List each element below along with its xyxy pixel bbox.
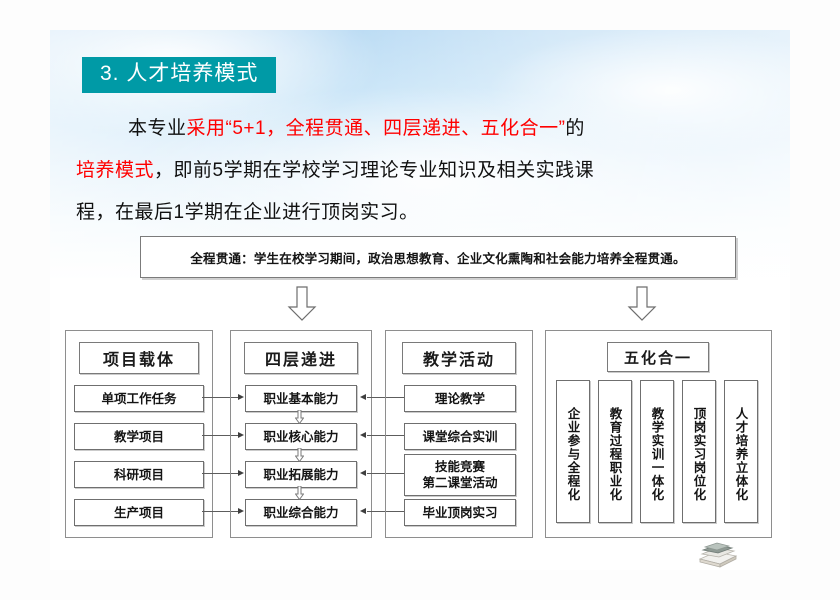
vcell-five-in-one-3[interactable]: 教学实训一体化 [640, 380, 674, 523]
cell-teaching-activity-2[interactable]: 课堂综合实训 [404, 423, 516, 450]
column-header-four-layer: 四层递进 [244, 342, 358, 374]
progression-arrow-2 [295, 448, 304, 464]
cell-project-carrier-2[interactable]: 教学项目 [74, 423, 204, 450]
column-header-five-in-one: 五化合一 [607, 342, 709, 372]
cell-four-layer-1[interactable]: 职业基本能力 [245, 385, 357, 412]
cell-project-carrier-1[interactable]: 单项工作任务 [74, 385, 204, 412]
cell-four-layer-2[interactable]: 职业核心能力 [245, 423, 357, 450]
column-header-project-carrier: 项目载体 [79, 342, 199, 374]
cell-teaching-activity-3[interactable]: 技能竞赛 第二课堂活动 [404, 454, 516, 496]
column-header-teaching-activities: 教学活动 [402, 342, 516, 374]
cell-teaching-activity-4[interactable]: 毕业顶岗实习 [404, 499, 516, 526]
vcell-five-in-one-4[interactable]: 顶岗实习岗位化 [682, 380, 716, 523]
paragraph-text-3: ，即前5学期在学校学习理论专业知识及相关实践课 [154, 160, 594, 181]
cell-project-carrier-3[interactable]: 科研项目 [74, 461, 204, 488]
paragraph-highlight-2: 培养模式 [76, 160, 154, 181]
progression-arrow-3 [295, 486, 304, 502]
connector-arrowhead-c3-4 [360, 508, 366, 514]
banner-text: 全程贯通：学生在校学习期间，政治思想教育、企业文化熏陶和社会能力培养全程贯通。 [190, 248, 685, 267]
cell-four-layer-4[interactable]: 职业综合能力 [245, 499, 357, 526]
paragraph-text-4: 程，在最后1学期在企业进行顶岗实习。 [76, 202, 419, 223]
stack-of-books-icon [694, 542, 740, 568]
paragraph-highlight-1: 采用“5+1，全程贯通、四层递进、五化合一” [187, 118, 566, 139]
down-block-arrow-left [287, 286, 317, 322]
progression-arrow-1 [295, 410, 304, 426]
cell-teaching-activity-1[interactable]: 理论教学 [404, 385, 516, 412]
connector-arrowhead-c3-3 [360, 470, 366, 476]
presentation-slide: 3. 人才培养模式 本专业采用“5+1，全程贯通、四层递进、五化合一”的培养模式… [50, 30, 790, 570]
slide-title: 3. 人才培养模式 [82, 57, 276, 93]
vcell-five-in-one-2[interactable]: 教育过程职业化 [598, 380, 632, 523]
full-process-banner: 全程贯通：学生在校学习期间，政治思想教育、企业文化熏陶和社会能力培养全程贯通。 [140, 236, 736, 278]
connector-arrowhead-c3-1 [360, 394, 366, 400]
cell-project-carrier-4[interactable]: 生产项目 [74, 499, 204, 526]
down-block-arrow-right [627, 286, 657, 322]
cell-teaching-activity-3-line2: 第二课堂活动 [422, 475, 497, 491]
slide-canvas: 3. 人才培养模式 本专业采用“5+1，全程贯通、四层递进、五化合一”的培养模式… [0, 0, 840, 600]
body-paragraph: 本专业采用“5+1，全程贯通、四层递进、五化合一”的培养模式，即前5学期在学校学… [76, 108, 766, 234]
cell-four-layer-3[interactable]: 职业拓展能力 [245, 461, 357, 488]
paragraph-text-2: 的 [565, 118, 585, 139]
connector-arrowhead-c3-2 [360, 432, 366, 438]
vcell-five-in-one-5[interactable]: 人才培养立体化 [724, 380, 758, 523]
cell-teaching-activity-3-line1: 技能竞赛 [435, 459, 485, 475]
vcell-five-in-one-1[interactable]: 企业参与全程化 [556, 380, 590, 523]
paragraph-text-1: 本专业 [128, 118, 187, 139]
